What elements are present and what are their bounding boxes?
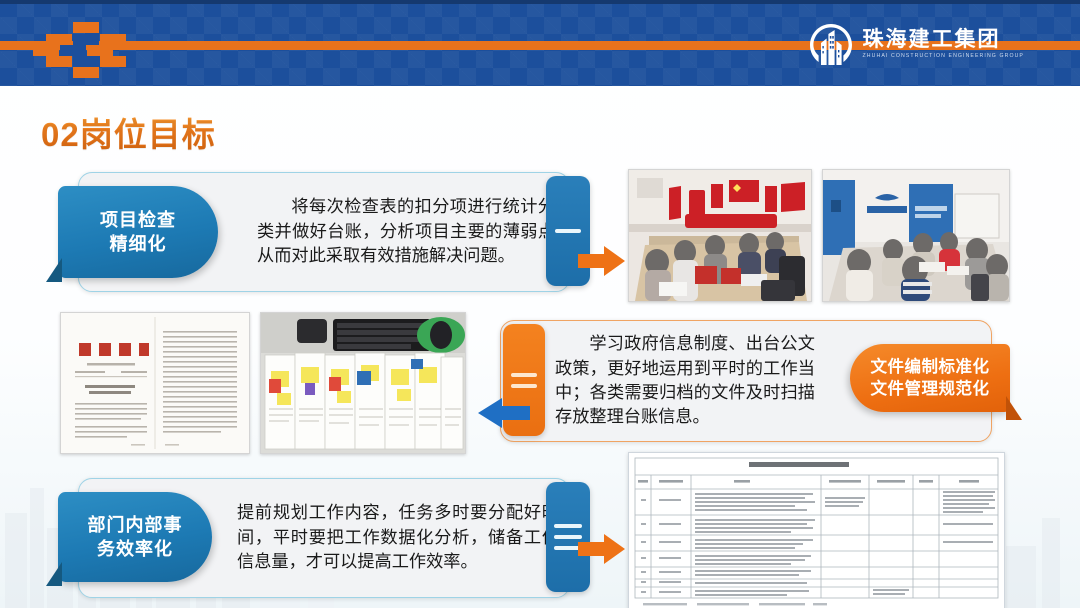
card-1-numeral-stroke [555,229,581,233]
logo-text-en: ZHUHAI CONSTRUCTION ENGINEERING GROUP [863,53,1024,61]
card-2-text: 学习政府信息制度、出台公文政策，更好地运用到平时的工作当中；各类需要归档的文件及… [555,321,815,441]
card-3-label-line1: 部门内部事 [88,513,183,537]
logo-mark-icon [808,22,854,68]
card-1-pill-notch [46,258,62,282]
card-2-tag-notch [1006,396,1022,420]
card-1-arrow-right-icon [578,245,626,277]
card-3-text: 提前规划工作内容，任务多时要分配好时间，平时要把工作数据化分析，储备工作信息量，… [237,479,559,597]
photo-meeting-minutes-document [60,312,250,454]
page-title: 02岗位目标 [41,108,216,156]
image-weekly-task-table [628,452,1005,608]
card-1-label-line1: 项目检查 [100,208,176,232]
card-2-arrow-left-icon [476,396,530,430]
slide-header: 珠海建工集团 ZHUHAI CONSTRUCTION ENGINEERING G… [0,0,1080,86]
card-1-text: 将每次检查表的扣分项进行统计分类并做好台账，分析项目主要的薄弱点从而对此采取有效… [257,173,555,291]
card-3-label-line2: 务效率化 [97,537,173,561]
card-2-numeral-stroke-1 [511,373,537,377]
logo-text-cn: 珠海建工集团 [863,29,1024,51]
company-logo: 珠海建工集团 ZHUHAI CONSTRUCTION ENGINEERING G… [808,22,1024,68]
header-bottom-edge [0,0,1080,4]
card-2-label-tag[interactable]: 文件编制标准化 文件管理规范化 [850,344,1010,412]
card-1-label-pill[interactable]: 项目检查 精细化 [58,186,218,278]
card-2-label-line1: 文件编制标准化 [871,356,990,378]
photo-desk-documents-keyboard [260,312,466,454]
card-2-label-line2: 文件管理规范化 [871,378,990,400]
photo-meeting-room-red-banners [628,169,812,302]
card-3-label-pill[interactable]: 部门内部事 务效率化 [58,492,212,582]
card-3-arrow-right-icon [578,533,626,565]
card-2-numeral-stroke-2 [511,384,537,388]
slide-root: 珠海建工集团 ZHUHAI CONSTRUCTION ENGINEERING G… [0,0,1080,608]
card-3-numeral-stroke-1 [554,524,582,528]
card-3-pill-notch [46,562,62,586]
photo-meeting-room-company-wall [822,169,1010,302]
header-checker-decoration [33,22,139,68]
card-1-label-line2: 精细化 [110,232,167,256]
